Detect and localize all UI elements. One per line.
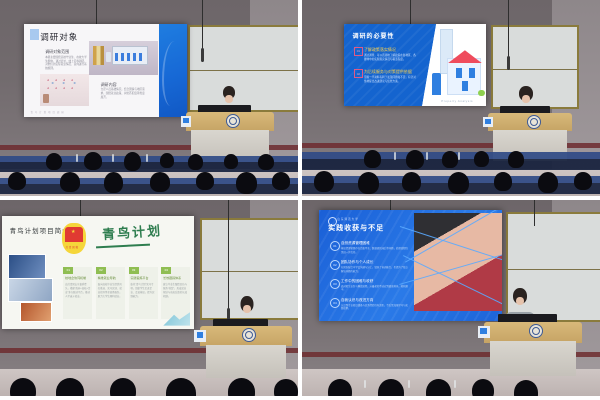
item-heading: 为后续服务与对策提供依据 (364, 69, 412, 75)
card-body: 由共青团山东省委牵头，搭建“政府+高校+企业”多方联动平台，推动人才返乡就业。 (65, 283, 90, 298)
item-body: 在团队配合中学会沟通与分工，锻炼了协调能力，也提升了独立解决问题的能力。 (341, 266, 410, 273)
slide-accent-band (159, 24, 187, 117)
info-card: 04 长效跟踪体系 建立毕业生跟踪回访与服务“档案”，形成就业帮扶与动态反馈的长… (161, 267, 190, 319)
item-heading: 团队协作与个人成长 (341, 260, 373, 265)
lectern-top (186, 112, 274, 131)
lecture-hall-room: 调研对象 调研对象范围 本篇主要围绕高校毕业生、在校大学生群体，通过走访、线上问… (0, 0, 298, 196)
slide-gains-and-gaps: 山东师范大学 实践收获与不足 01 自然资源管理困难 基层资源管理存在台账不全、… (319, 210, 502, 321)
projection-screen: 山东师范大学 实践收获与不足 01 自然资源管理困难 基层资源管理存在台账不全、… (319, 210, 502, 321)
projection-screen: Property Analysis 调研的必要性 01 了解政策落实情况 通过调… (344, 24, 486, 106)
slide-project-intro: 青鸟计划项目简介 ★ 共青团徽 青鸟计划 01 校地企协同机制 由共青团山东省委… (2, 216, 194, 329)
grid-divider-horizontal (0, 196, 600, 200)
projection-screen: 调研对象 调研对象范围 本篇主要围绕高校毕业生、在校大学生群体，通过走访、线上问… (24, 24, 187, 117)
slide-section-body: 立足人员基础情况，结合国情与地区需求，围绕就业政策、岗位匹配度等维度展开。 (101, 88, 147, 100)
card-number: 02 (96, 267, 106, 274)
slide-footer: 青鸟计划项目调研 (31, 110, 66, 114)
slide-title: 实践收获与不足 (328, 223, 384, 233)
hanging-microphone (202, 0, 203, 62)
card-body: 建立毕业生跟踪回访与服务“档案”，形成就业帮扶与动态反馈的长效机制。 (163, 283, 188, 298)
panel-bottom-left: 青鸟计划项目简介 ★ 共青团徽 青鸟计划 01 校地企协同机制 由共青团山东省委… (0, 200, 298, 396)
university-emblem (527, 115, 541, 129)
photo-cluster (8, 254, 58, 320)
card-number: 03 (129, 267, 139, 274)
item-heading: 工作中的困难与收获 (341, 279, 373, 284)
hanging-microphone (228, 200, 229, 322)
item-number: 01 (330, 241, 340, 251)
slide-necessity: Property Analysis 调研的必要性 01 了解政策落实情况 通过调… (344, 24, 486, 106)
slide-title: 青鸟计划项目简介 (10, 225, 70, 235)
office-work-photo (414, 213, 502, 311)
card-heading: 精准就业导航 (98, 276, 124, 280)
desk-monitor-photo (89, 41, 157, 75)
panel-top-right: Property Analysis 调研的必要性 01 了解政策落实情况 通过调… (302, 0, 600, 196)
projection-screen: 青鸟计划项目简介 ★ 共青团徽 青鸟计划 01 校地企协同机制 由共青团山东省委… (2, 216, 194, 329)
card-number: 01 (63, 267, 73, 274)
hanging-microphone (508, 0, 509, 70)
slide-section-body: 本篇主要围绕高校毕业生、在校大学生群体，通过走访、线上问卷调研，对他们的实际就业… (45, 56, 87, 72)
item-number: 02 (354, 69, 363, 78)
card-body: 面向高校毕业生提供岗位推送、实习实训、就业指导等全链条服务，助力大学生顺利就业。 (98, 283, 123, 298)
card-heading: 校地企协同机制 (65, 276, 91, 280)
item-body: 掌握一手资料有利于发现问题和不足，有针对性地提出改进建议与优化方案。 (364, 76, 416, 84)
item-body: 基层资源管理存在台账不全、数据更新滞后等问题，处理流程仍需进一步优化。 (341, 247, 410, 254)
item-number: 03 (330, 279, 340, 289)
info-card: 02 精准就业导航 面向高校毕业生提供岗位推送、实习实训、就业指导等全链条服务，… (96, 267, 125, 319)
slide-section-heading: 调研对象范围 (45, 49, 69, 55)
item-number: 01 (354, 47, 363, 56)
paper-stack (194, 330, 205, 341)
lectern-top (200, 326, 292, 346)
youth-league-badge: ★ 共青团徽 (62, 223, 87, 255)
slide-title: 调研对象 (40, 31, 78, 43)
slide-accent-square (30, 29, 39, 40)
item-number: 04 (330, 298, 340, 308)
lectern-top (488, 113, 572, 131)
university-emblem (226, 114, 240, 128)
audience (0, 148, 298, 196)
info-card: 03 实践锻炼平台 依托“青鸟计划”实习专项，组织学生走进企业、走进基层，提升实… (129, 267, 158, 319)
university-emblem (529, 324, 543, 338)
panel-bottom-right: 山东师范大学 实践收获与不足 01 自然资源管理困难 基层资源管理存在台账不全、… (302, 200, 600, 396)
water-cup (483, 117, 493, 128)
lectern (200, 326, 292, 378)
audience (302, 370, 600, 396)
item-body: 通过调查，可以直观地了解政策在各地区、各群体中的实际落实情况与覆盖程度。 (364, 54, 416, 62)
lecture-hall-room: 山东师范大学 实践收获与不足 01 自然资源管理困难 基层资源管理存在台账不全、… (302, 200, 600, 396)
water-cup (478, 326, 490, 338)
water-cup (181, 116, 192, 127)
hanging-microphone (534, 200, 535, 226)
brand-underline (96, 244, 150, 249)
item-heading: 自然资源管理困难 (341, 241, 370, 246)
university-emblem (242, 328, 256, 342)
notebook-mindmap-photo (40, 74, 89, 106)
card-heading: 实践锻炼平台 (130, 276, 156, 280)
audience (302, 144, 600, 196)
photo-collage: 调研对象 调研对象范围 本篇主要围绕高校毕业生、在校大学生群体，通过走访、线上问… (0, 0, 600, 400)
item-number: 02 (330, 260, 340, 270)
university-name: 山东师范大学 (337, 217, 359, 221)
item-heading: 了解政策落实情况 (364, 47, 396, 53)
brand-wordmark: 青鸟计划 (101, 220, 162, 243)
item-heading: 自我认识与改进方向 (341, 298, 373, 303)
info-card: 01 校地企协同机制 由共青团山东省委牵头，搭建“政府+高校+企业”多方联动平台… (63, 267, 92, 319)
card-number: 04 (161, 267, 171, 274)
item-body: 认识到专业知识储备与实务经验仍有差距，今后需加强学习与实践积累。 (341, 304, 410, 311)
card-body: 依托“青鸟计划”实习专项，组织学生走进企业、走进基层，提升实践能力。 (130, 283, 155, 298)
lecture-hall-room: 青鸟计划项目简介 ★ 共青团徽 青鸟计划 01 校地企协同机制 由共青团山东省委… (0, 200, 298, 396)
slide-section-heading: 调研内容 (101, 82, 117, 88)
slide-title: 调研的必要性 (353, 31, 395, 40)
slide-caption: Property Analysis (441, 99, 473, 103)
lectern (484, 322, 582, 376)
lectern-body (206, 345, 287, 378)
audience (0, 374, 298, 396)
lecture-hall-room: Property Analysis 调研的必要性 01 了解政策落实情况 通过调… (302, 0, 600, 196)
item-body: 面对陌生业务与繁琐流程，从最初的不适应到逐渐熟练，收获颇丰。 (341, 285, 410, 292)
slide-research-subjects: 调研对象 调研对象范围 本篇主要围绕高校毕业生、在校大学生群体，通过走访、线上问… (24, 24, 187, 117)
panel-top-left: 调研对象 调研对象范围 本篇主要围绕高校毕业生、在校大学生群体，通过走访、线上问… (0, 0, 298, 196)
card-heading: 长效跟踪体系 (163, 276, 189, 280)
badge-label: 共青团徽 (66, 245, 80, 249)
grid-divider-vertical (298, 0, 302, 400)
lectern-top (484, 322, 582, 343)
